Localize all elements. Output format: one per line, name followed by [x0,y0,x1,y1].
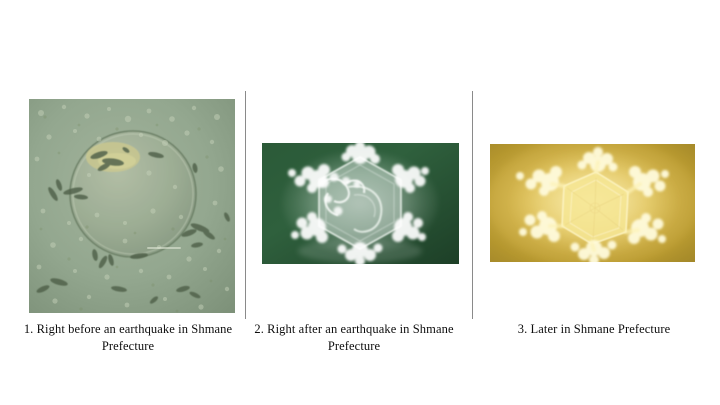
figure-1-image [29,99,235,313]
dark-green-snowflake-graphic [262,143,459,264]
panel-divider-2 [472,91,473,319]
panel-divider-1 [245,91,246,319]
sage-green-micrograph-graphic [29,99,235,313]
figure-2-caption: 2. Right after an earthquake in Shmane P… [238,321,470,355]
golden-snowflake-graphic [490,144,695,262]
figure-2-image [262,143,459,264]
figure-3-caption: 3. Later in Shmane Prefecture [478,321,710,338]
figure-1-caption: 1. Right before an earthquake in Shmane … [14,321,242,355]
figure-3-image [490,144,695,262]
